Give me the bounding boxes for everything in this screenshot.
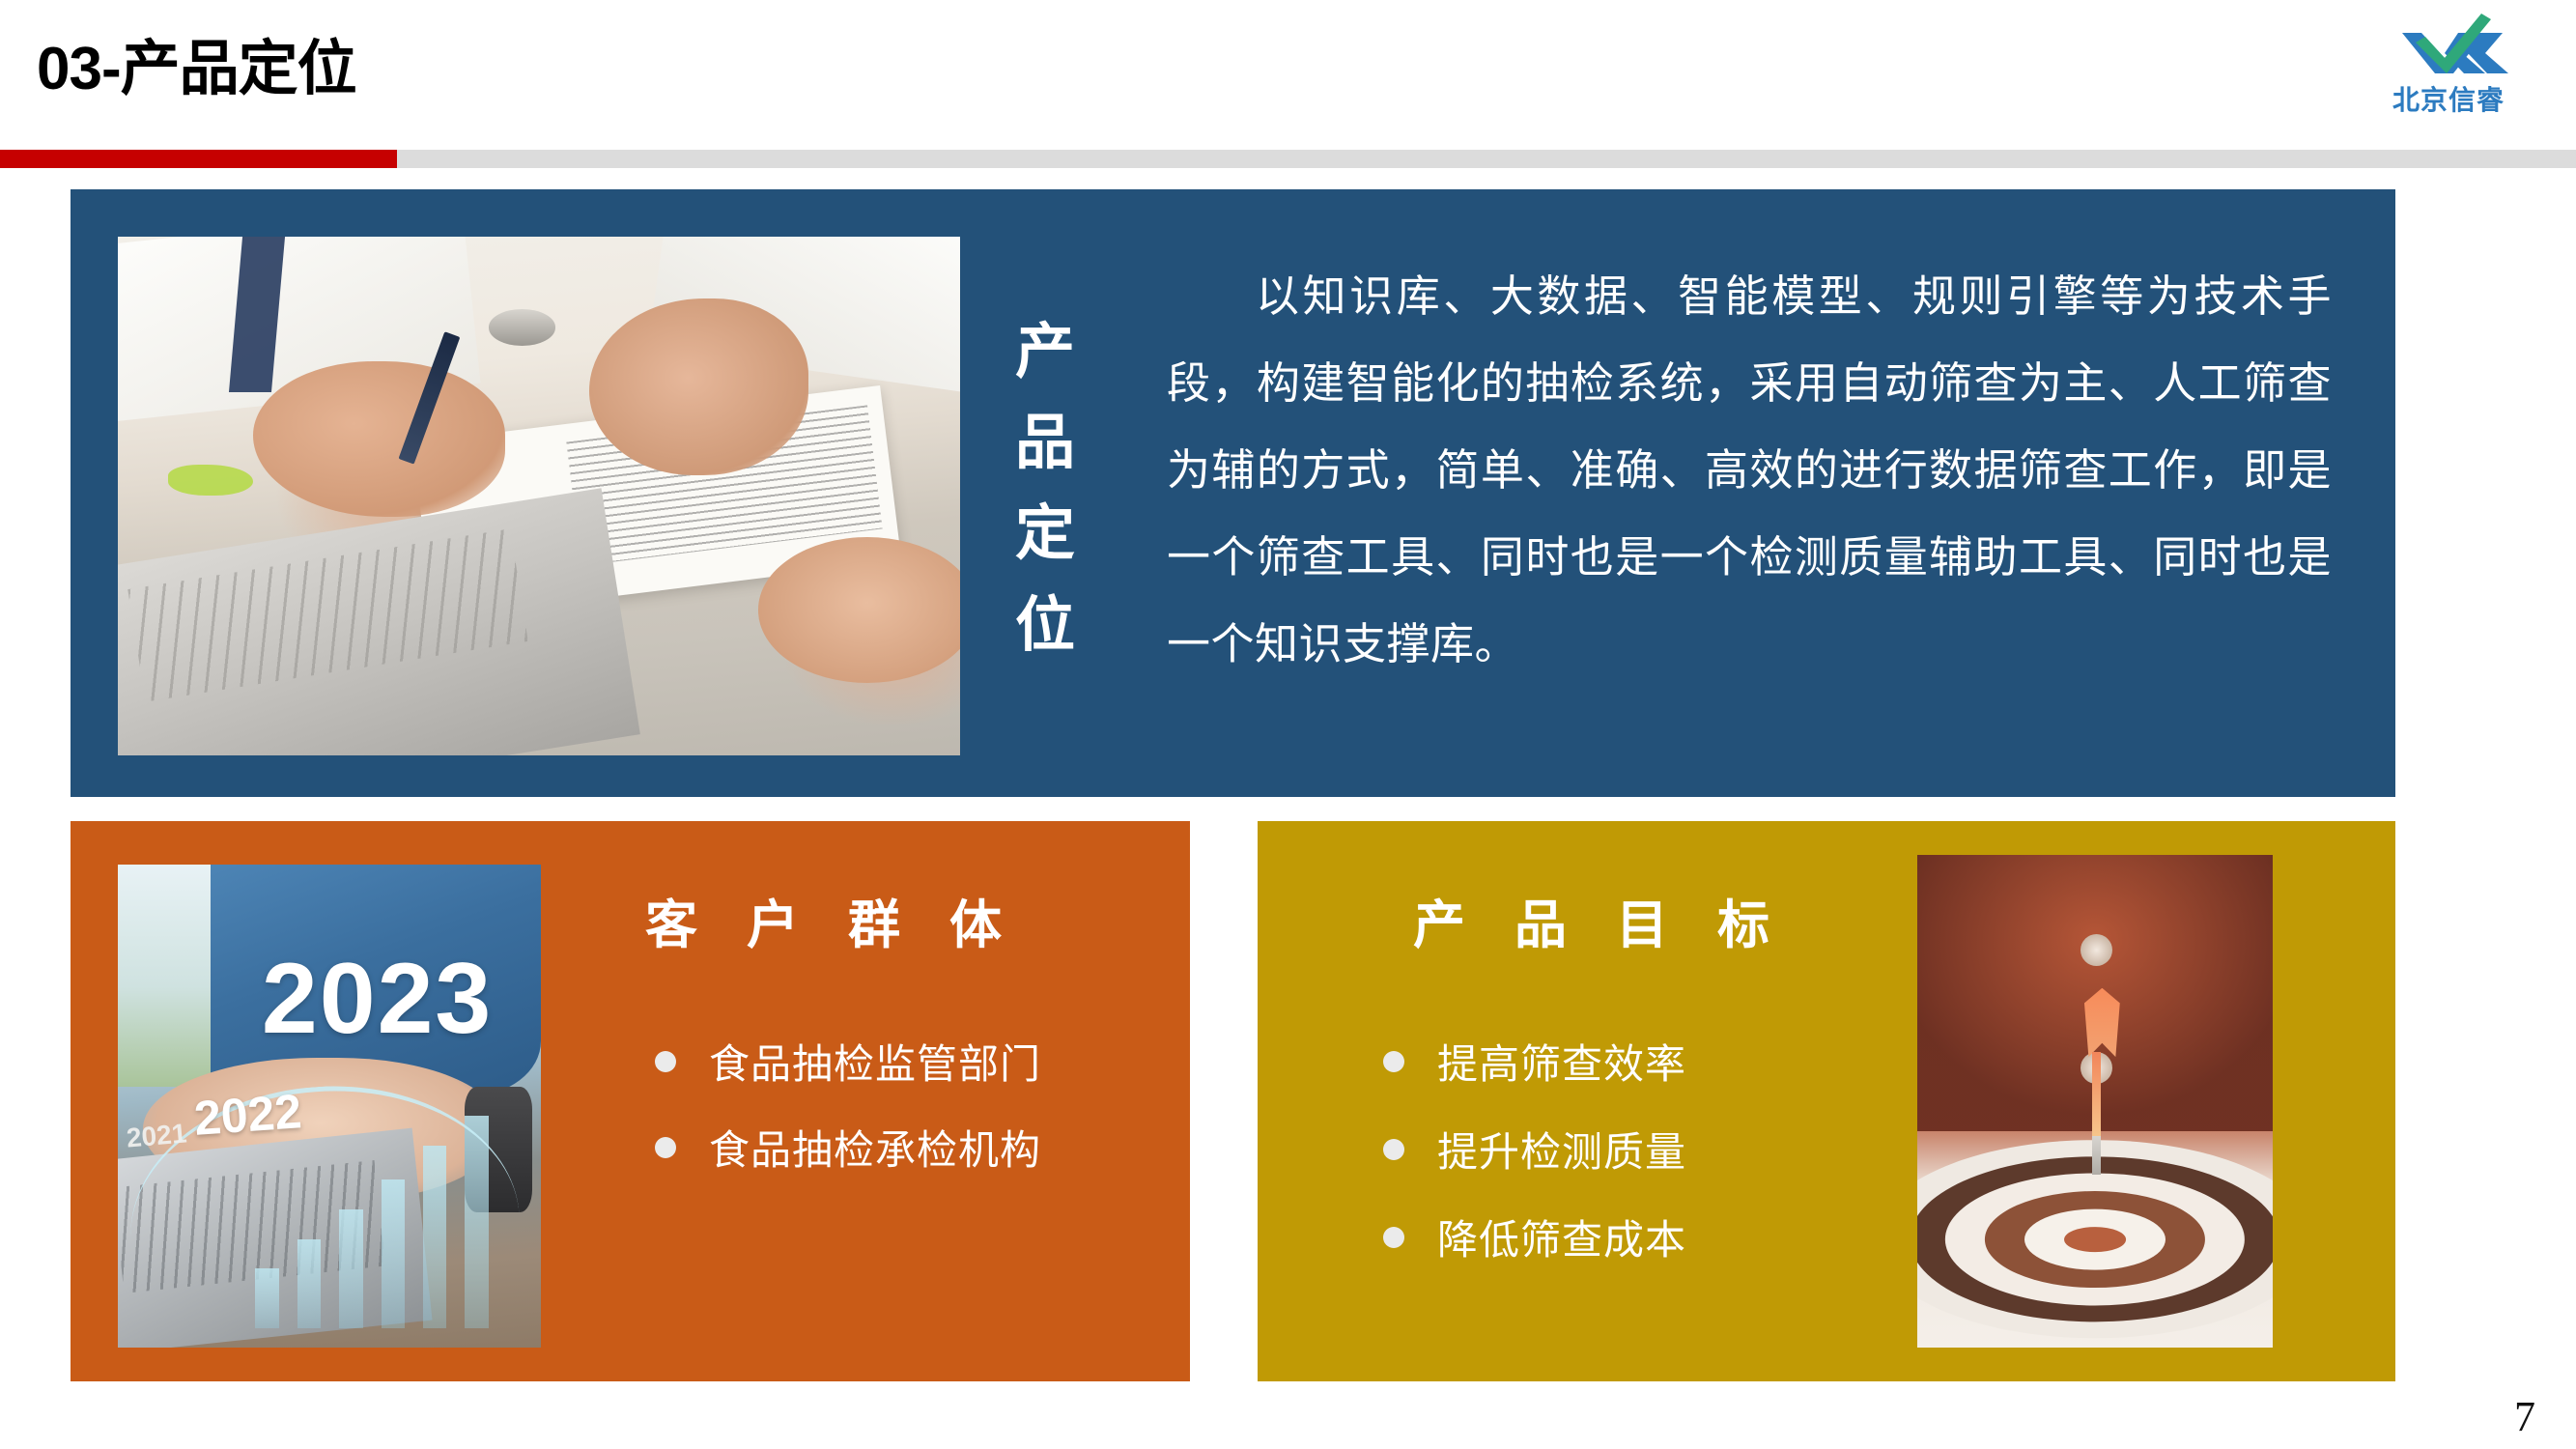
list-item: 提升检测质量 [1383,1120,1686,1179]
product-positioning-panel: 产 品 定 位 以知识库、大数据、智能模型、规则引擎等为技术手段，构建智能化的抽… [71,189,2395,797]
list-item-label: 食品抽检承检机构 [709,1118,1041,1177]
list-item: 提高筛查效率 [1383,1032,1686,1091]
photo-hand-pointing [589,298,808,475]
header-divider [0,150,2576,168]
product-goals-bullet-list: 提高筛查效率 提升检测质量 降低筛查成本 [1383,1032,1686,1295]
positioning-paragraph: 以知识库、大数据、智能模型、规则引擎等为技术手段，构建智能化的抽检系统，采用自动… [1167,253,2332,688]
company-logo: 北京信睿 [2362,8,2535,126]
photo-shirt-button-upper [2081,934,2112,966]
list-item-label: 食品抽检监管部门 [709,1032,1041,1091]
product-goals-title: 产 品 目 标 [1413,882,1787,958]
page-title: 03-产品定位 [37,19,356,106]
page-number: 7 [2514,1392,2535,1441]
divider-accent-bar [0,150,397,168]
list-item-label: 降低筛查成本 [1437,1207,1686,1266]
bullet-dot-icon [655,1051,676,1072]
customer-group-title: 客 户 群 体 [645,882,1019,958]
customer-group-bullet-list: 食品抽检监管部门 食品抽检承检机构 [655,1032,1041,1204]
bullet-dot-icon [1383,1227,1404,1248]
vertical-label-char-2: 定 [992,489,1098,580]
growth-2023-photo: 2023 2022 2021 [118,865,541,1348]
vertical-section-label: 产 品 定 位 [992,307,1098,671]
list-item: 降低筛查成本 [1383,1207,1686,1266]
list-item-label: 提升检测质量 [1437,1120,1686,1179]
photo-hand-third [758,537,960,682]
vertical-label-char-0: 产 [992,307,1098,398]
vertical-label-char-1: 品 [992,398,1098,489]
photo-hand-writing [253,361,506,517]
list-item-label: 提高筛查效率 [1437,1032,1686,1091]
vertical-label-char-3: 位 [992,581,1098,671]
bullet-dot-icon [1383,1139,1404,1160]
logo-text: 北京信睿 [2362,79,2535,118]
list-item: 食品抽检监管部门 [655,1032,1041,1091]
photo-wristwatch [489,309,556,346]
photo-year-label-2021: 2021 [125,1118,187,1153]
bullet-dot-icon [1383,1051,1404,1072]
divider-track-bar [397,150,2576,168]
list-item: 食品抽检承检机构 [655,1118,1041,1177]
dartboard-bullseye [2064,1227,2126,1252]
xr-check-logo-icon [2362,8,2535,83]
contract-signing-photo [118,237,960,755]
photo-year-label-2023: 2023 [262,942,493,1057]
bullet-dot-icon [655,1137,676,1158]
dartboard-target-photo [1917,855,2273,1348]
photo-dart-tip [2092,1136,2100,1176]
photo-year-label-2022: 2022 [192,1083,303,1147]
photo-dart-shaft [2092,1052,2100,1141]
photo-green-object [168,465,252,496]
